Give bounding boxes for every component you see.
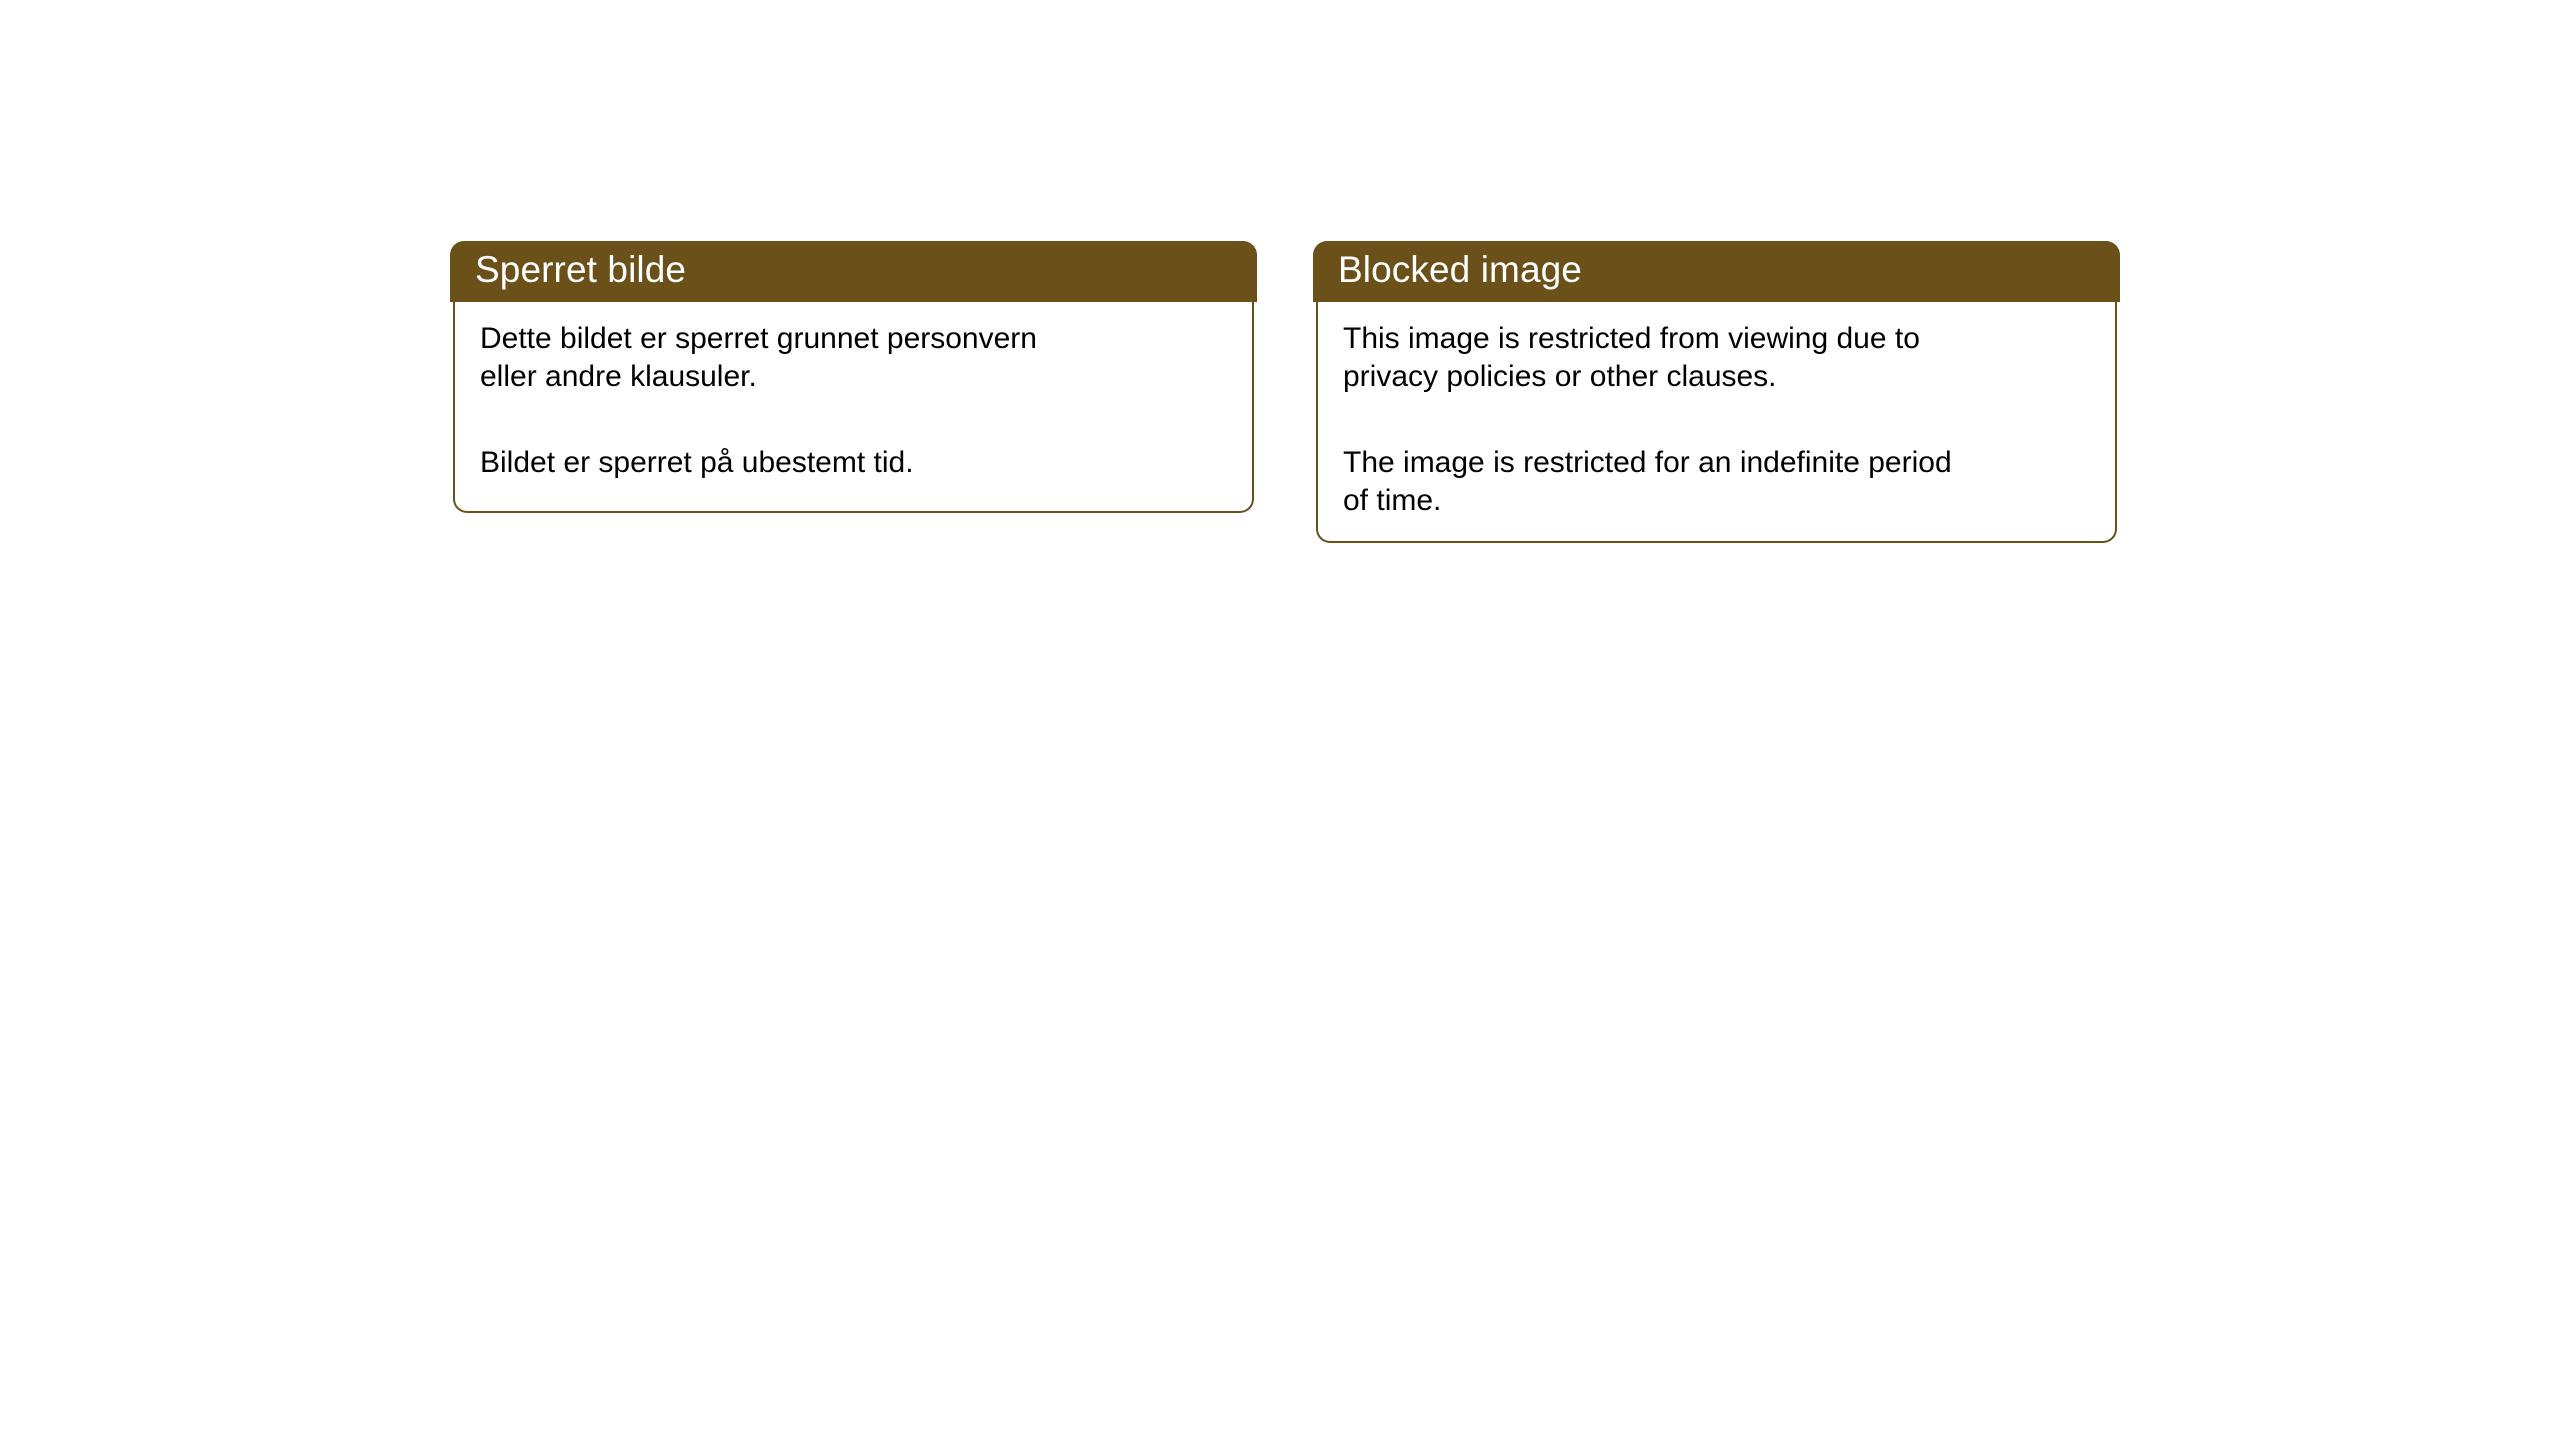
card-header-english: Blocked image — [1313, 241, 2120, 302]
blocked-image-card-norwegian: Sperret bilde Dette bildet er sperret gr… — [450, 241, 1257, 513]
card-title-norwegian: Sperret bilde — [475, 251, 686, 292]
blocked-image-notice-area: Sperret bilde Dette bildet er sperret gr… — [0, 0, 2560, 1440]
card-title-english: Blocked image — [1338, 251, 1582, 292]
card-body-norwegian: Dette bildet er sperret grunnet personve… — [453, 302, 1254, 513]
card-paragraph-norwegian-1: Dette bildet er sperret grunnet personve… — [480, 320, 1238, 397]
card-header-norwegian: Sperret bilde — [450, 241, 1257, 302]
card-paragraph-english-1: This image is restricted from viewing du… — [1343, 320, 2101, 397]
card-paragraph-english-2: The image is restricted for an indefinit… — [1343, 444, 2101, 521]
blocked-image-card-english: Blocked image This image is restricted f… — [1313, 241, 2120, 543]
card-paragraph-norwegian-2: Bildet er sperret på ubestemt tid. — [480, 444, 1238, 482]
card-body-english: This image is restricted from viewing du… — [1316, 302, 2117, 543]
